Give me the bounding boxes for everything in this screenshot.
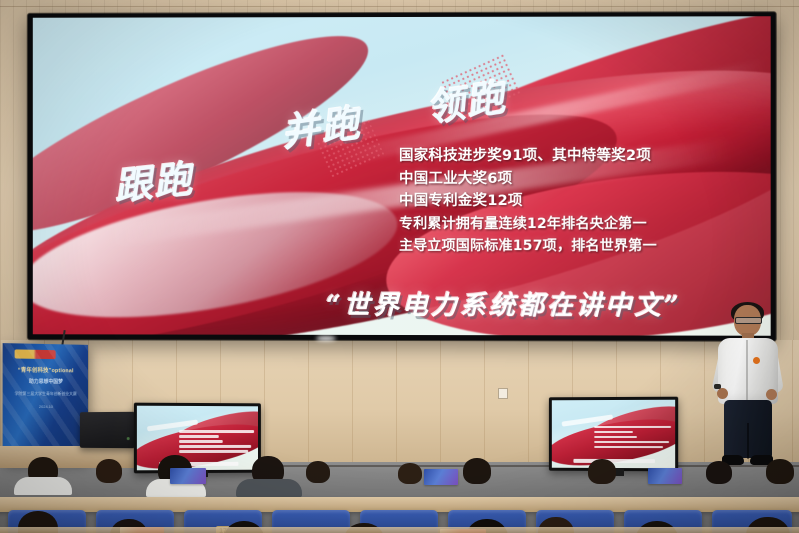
audience-head xyxy=(398,463,422,484)
led-presentation-screen[interactable]: 跟跑 并跑 领跑 国家科技进步奖91项、其中特等奖2项 中国工业大奖6项 中国专… xyxy=(28,12,776,341)
presenter-hand-right xyxy=(766,389,777,400)
lecture-hall-scene: 跟跑 并跑 领跑 国家科技进步奖91项、其中特等奖2项 中国工业大奖6项 中国专… xyxy=(0,0,799,533)
trouser-seam xyxy=(747,423,749,459)
audience-head xyxy=(588,459,616,484)
screen-surface: 跟跑 并跑 领跑 国家科技进步奖91项、其中特等奖2项 中国工业大奖6项 中国专… xyxy=(33,16,771,336)
presentation-clicker[interactable] xyxy=(714,384,721,389)
desk-placard xyxy=(648,468,682,484)
audience-body xyxy=(236,479,302,497)
audience-head xyxy=(96,459,122,483)
glasses-icon xyxy=(735,317,762,324)
mini-achievement-lines xyxy=(179,430,254,455)
audience-head xyxy=(463,458,491,484)
achievement-line: 中国工业大奖6项 xyxy=(399,167,771,190)
mini-achievement-lines xyxy=(594,426,671,451)
calligraphy-word-1: 跟跑 xyxy=(111,148,196,211)
wall-seam xyxy=(0,6,799,7)
calligraphy-word-2: 并跑 xyxy=(278,92,365,158)
podium-detail-line: 学院第三届大学生青年创新创业大赛 xyxy=(4,391,87,397)
screen-edge-glare xyxy=(316,336,336,341)
presenter-hand-left xyxy=(717,388,728,399)
achievement-line: 国家科技进步奖91项、其中特等奖2项 xyxy=(399,145,771,168)
audience-head xyxy=(766,459,794,484)
audience-body xyxy=(14,477,72,495)
wall-outlet xyxy=(498,388,508,399)
achievement-list: 国家科技进步奖91项、其中特等奖2项 中国工业大奖6项 中国专利金奖12项 专利… xyxy=(399,145,771,258)
party-emblem-icon xyxy=(15,349,56,359)
audience-desk xyxy=(0,527,799,533)
laptop-indicator-icon xyxy=(127,437,130,440)
slide-quote: “世界电力系统都在讲中文” xyxy=(326,285,682,323)
podium-title-line: “青年创科技”optional xyxy=(4,365,87,374)
achievement-line: 主导立项国际标准157项，排名世界第一 xyxy=(399,235,771,258)
podium-subtitle-line: 助力思想中国梦 xyxy=(4,378,87,386)
podium-date-line: 2024.10 xyxy=(4,404,87,409)
shirt-placket xyxy=(746,340,748,400)
audience-area: 17 18 19 xyxy=(0,455,799,533)
presenter xyxy=(716,305,782,465)
audience-head xyxy=(306,461,330,483)
desk-placard xyxy=(424,469,458,485)
audience-row-back xyxy=(0,455,799,485)
desk-placard xyxy=(170,468,206,484)
audience-head xyxy=(706,461,732,484)
achievement-line: 专利累计拥有量连续12年排名央企第一 xyxy=(399,212,771,235)
laptop[interactable] xyxy=(80,412,135,448)
name-badge xyxy=(753,357,760,364)
achievement-line: 中国专利金奖12项 xyxy=(399,190,771,213)
podium-banner: “青年创科技”optional 助力思想中国梦 学院第三届大学生青年创新创业大赛… xyxy=(3,343,88,463)
